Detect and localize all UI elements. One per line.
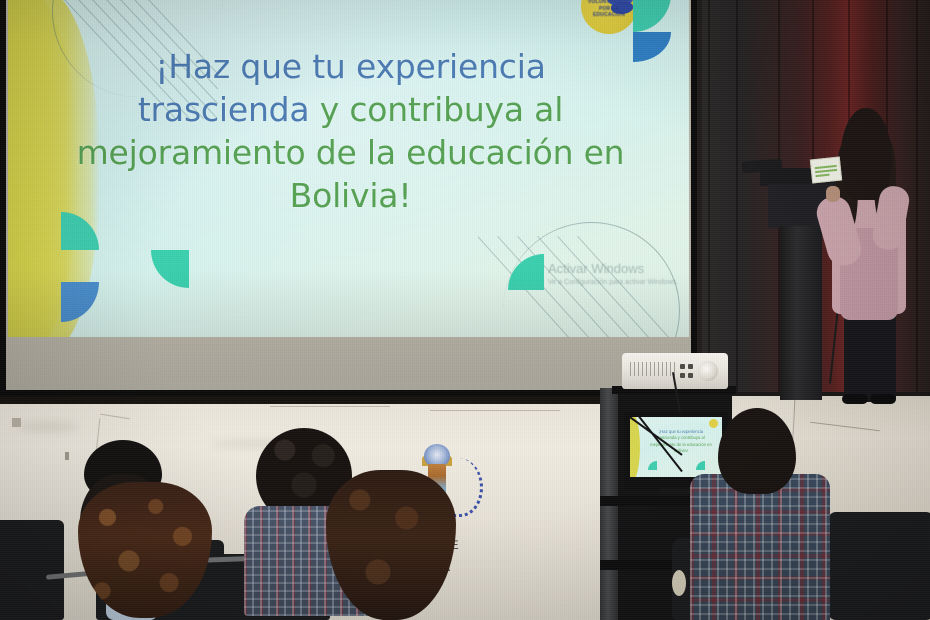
audience-member-plaid <box>690 408 830 620</box>
audience-plaid-head <box>718 408 796 494</box>
projection-screen: VOLUNTARIADO POR LA EDUCACIÓN ¡Haz que t… <box>0 0 697 400</box>
headline-line-1-text: ¡Haz que tu experiencia <box>155 47 545 86</box>
presenter-hand <box>826 186 840 202</box>
watermark-subtitle: Ve a Configuración para activar Windows. <box>548 278 678 287</box>
projected-slide: VOLUNTARIADO POR LA EDUCACIÓN ¡Haz que t… <box>8 0 689 337</box>
presenter-hair <box>840 108 892 200</box>
presenter-shoe-left <box>842 394 868 404</box>
monitor-stand <box>660 488 692 494</box>
chair-back-far-right <box>828 512 930 620</box>
presenter-trousers <box>844 306 896 402</box>
headline-line-4-text: Bolivia! <box>290 176 412 215</box>
monitor-slide-yellow-shape <box>630 417 640 477</box>
audience-plaid-shirt <box>690 474 830 620</box>
presenter-at-podium <box>826 108 912 403</box>
headline-line-4: Bolivia! <box>34 175 667 218</box>
audience-member-curly <box>74 482 214 620</box>
watermark-title: Activar Windows <box>548 262 678 276</box>
logo-text-line1: VOLUNTARIADO <box>587 0 631 6</box>
projector-lens-icon <box>698 361 718 381</box>
headline-line-2-blue-text: trascienda <box>138 90 310 129</box>
audience-member-long <box>326 470 456 620</box>
headline-line-2-green-text: y contribuya al <box>320 90 563 129</box>
headline-line-3-text: mejoramiento de la educación en <box>77 133 625 172</box>
chair-knob-right <box>672 570 686 596</box>
logo-text-line2: POR LA EDUCACIÓN <box>587 7 631 19</box>
audience-curly-hair <box>78 482 212 618</box>
headline-line-1: ¡Haz que tu experiencia <box>34 46 667 89</box>
audience-long-hair <box>326 470 456 620</box>
presenter-held-card <box>810 156 842 183</box>
chair-back-left <box>0 520 64 620</box>
presenter-shoe-right <box>870 394 896 404</box>
headline-line-2: trascienda y contribuya al <box>34 89 667 132</box>
slide-headline: ¡Haz que tu experiencia trascienda y con… <box>34 46 667 218</box>
headline-line-3: mejoramiento de la educación en <box>34 132 667 175</box>
photo-scene: VOLUNTARIADO POR LA EDUCACIÓN ¡Haz que t… <box>0 0 930 620</box>
projector-vent <box>630 362 676 376</box>
windows-activation-watermark: Activar Windows Ve a Configuración para … <box>548 262 678 287</box>
